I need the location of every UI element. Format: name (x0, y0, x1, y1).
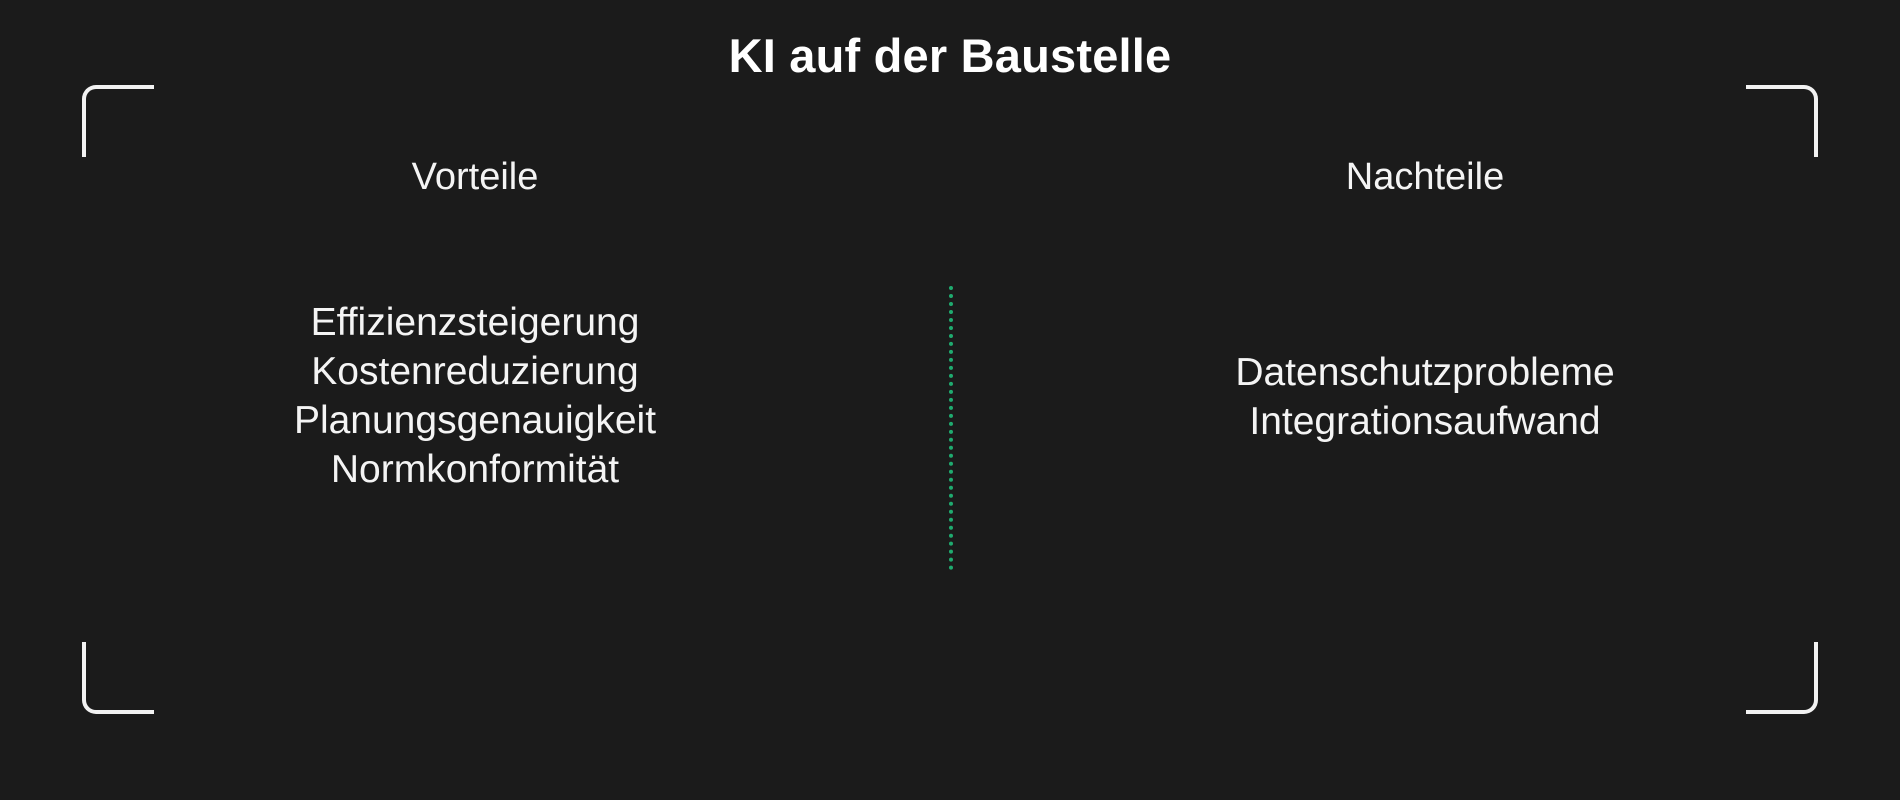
list-item: Integrationsaufwand (1235, 397, 1614, 446)
column-cons: Nachteile Datenschutzprobleme Integratio… (950, 140, 1900, 660)
list-item: Normkonformität (294, 445, 656, 494)
list-item: Planungsgenauigkeit (294, 396, 656, 445)
slide-title: KI auf der Baustelle (0, 28, 1900, 84)
slide-canvas: KI auf der Baustelle Vorteile Effizienzs… (0, 0, 1900, 800)
column-pros: Vorteile Effizienzsteigerung Kostenreduz… (0, 140, 950, 660)
column-pros-list: Effizienzsteigerung Kostenreduzierung Pl… (294, 298, 656, 495)
column-pros-heading: Vorteile (412, 154, 539, 202)
column-cons-list: Datenschutzprobleme Integrationsaufwand (1235, 348, 1614, 446)
list-item: Kostenreduzierung (294, 347, 656, 396)
column-cons-heading: Nachteile (1346, 154, 1504, 202)
list-item: Datenschutzprobleme (1235, 348, 1614, 397)
column-divider (949, 286, 953, 570)
list-item: Effizienzsteigerung (294, 298, 656, 347)
